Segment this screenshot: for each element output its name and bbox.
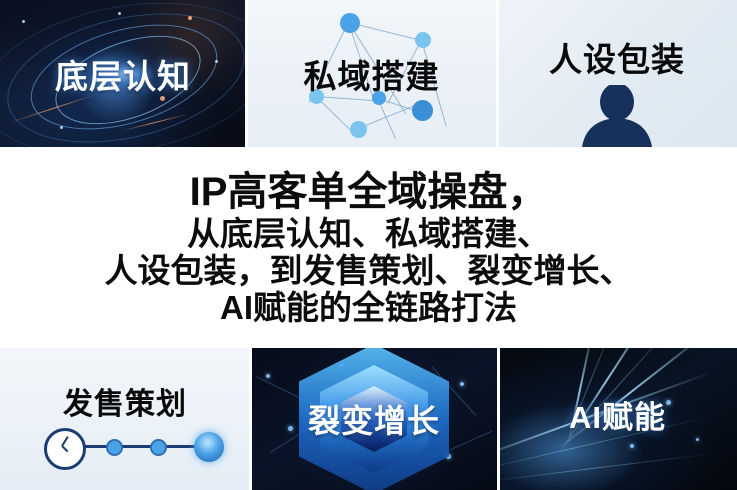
panel-label-persona-packaging: 人设包装 [549,33,685,81]
top-panel-row: 底层认知 私域搭建 [0,0,737,147]
timeline-icon [30,424,220,468]
timeline-endpoint-icon [194,432,224,462]
panel-label-underlying-cognition: 底层认知 [55,50,191,98]
poster-canvas: 底层认知 私域搭建 [0,0,737,490]
panel-ai-empowerment[interactable]: AI赋能 [498,348,737,490]
network-dot-icon [266,374,270,378]
panel-divider [249,348,252,490]
panel-divider [497,348,500,490]
bottom-panel-row: 发售策划 裂变增长 [0,348,737,490]
panel-persona-packaging[interactable]: 人设包装 [497,0,737,147]
spark-icon [22,20,25,23]
panel-fission-growth[interactable]: 裂变增长 [250,348,498,490]
person-silhouette-icon [557,85,677,147]
network-dot-icon [460,382,464,386]
panel-label-private-domain-building: 私域搭建 [304,50,440,98]
panel-private-domain-building[interactable]: 私域搭建 [246,0,497,147]
spark-icon [188,16,192,20]
panel-underlying-cognition[interactable]: 底层认知 [0,0,246,147]
headline-line-3: 人设包装，到发售策划、裂变增长、 [105,254,633,287]
panel-launch-planning[interactable]: 发售策划 [0,348,250,490]
spark-icon [666,400,671,405]
spark-icon [60,126,63,129]
clock-icon [44,428,86,470]
headline-line-1: IP高客单全域操盘， [190,172,548,212]
panel-divider [245,0,248,147]
network-dot-icon [288,426,293,431]
headline-line-2: 从底层认知、私域搭建、 [187,217,550,250]
headline-line-4: AI赋能的全链路打法 [220,291,517,324]
panel-divider [496,0,499,147]
spark-icon [696,438,699,441]
headline-block: IP高客单全域操盘， 从底层认知、私域搭建、 人设包装，到发售策划、裂变增长、 … [0,147,737,348]
panel-label-launch-planning: 发售策划 [63,379,187,423]
spark-icon [630,444,634,448]
panel-label-fission-growth: 裂变增长 [308,396,440,442]
panel-label-ai-empowerment: AI赋能 [569,392,666,437]
spark-icon [118,12,121,15]
spark-icon [215,60,218,63]
